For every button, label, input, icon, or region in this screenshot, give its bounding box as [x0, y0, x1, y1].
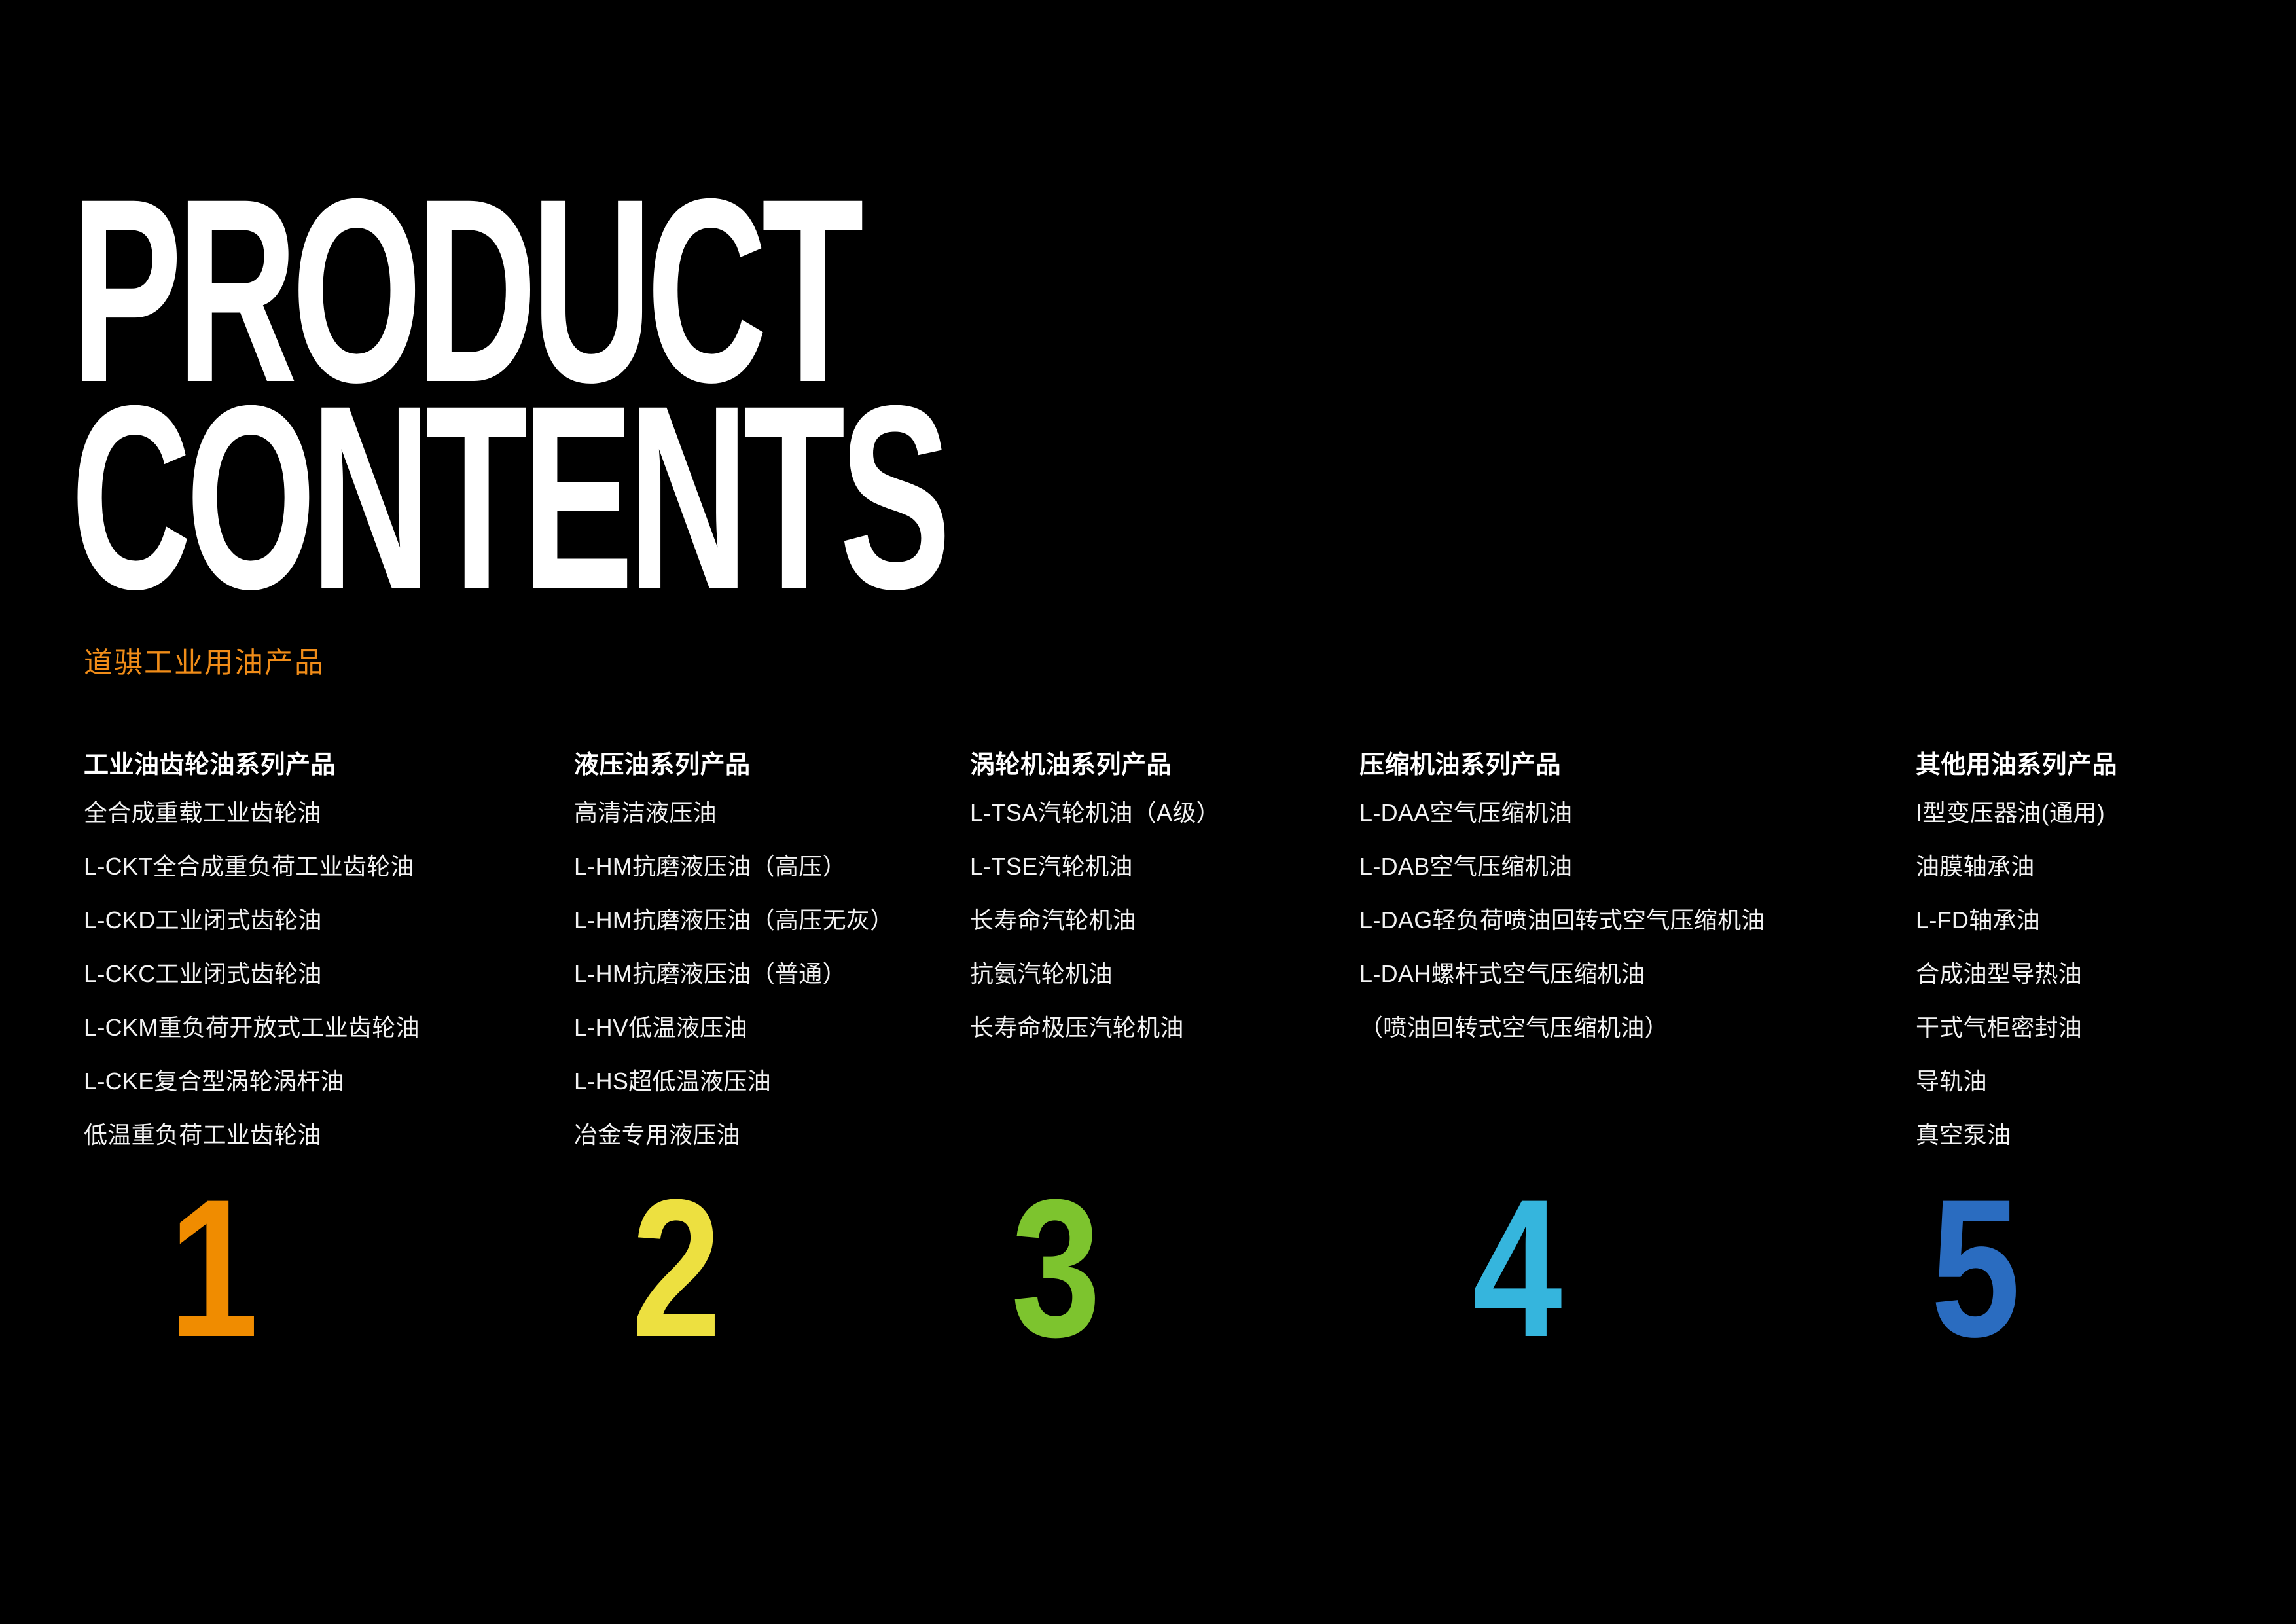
page-subtitle: 道骐工业用油产品	[84, 639, 325, 681]
list-item: L-CKM重负荷开放式工业齿轮油	[84, 1016, 568, 1039]
list-item: 全合成重载工业齿轮油	[84, 801, 568, 825]
list-item: 抗氨汽轮机油	[970, 962, 1356, 986]
list-item: 长寿命极压汽轮机油	[970, 1016, 1356, 1039]
list-item: L-HM抗磨液压油（高压）	[574, 855, 967, 878]
list-item: 低温重负荷工业齿轮油	[84, 1123, 568, 1147]
category-header-3: 涡轮机油系列产品	[970, 753, 1356, 778]
product-category-columns: 工业油齿轮油系列产品 全合成重载工业齿轮油 L-CKT全合成重负荷工业齿轮油 L…	[0, 753, 2296, 1211]
list-item: L-CKE复合型涡轮涡杆油	[84, 1070, 568, 1093]
list-item: I型变压器油(通用)	[1916, 801, 2217, 825]
category-header-1: 工业油齿轮油系列产品	[84, 753, 568, 778]
list-item: 长寿命汽轮机油	[970, 909, 1356, 932]
list-item: L-TSA汽轮机油（A级）	[970, 801, 1356, 825]
list-item: 真空泵油	[1916, 1123, 2217, 1147]
list-item: L-DAH螺杆式空气压缩机油	[1359, 962, 1909, 986]
list-item: L-FD轴承油	[1916, 909, 2217, 932]
list-item: L-CKC工业闭式齿轮油	[84, 962, 568, 986]
category-list-1: 全合成重载工业齿轮油 L-CKT全合成重负荷工业齿轮油 L-CKD工业闭式齿轮油…	[84, 801, 568, 1147]
list-item: 导轨油	[1916, 1070, 2217, 1093]
category-header-5: 其他用油系列产品	[1916, 753, 2217, 778]
category-column-1: 工业油齿轮油系列产品 全合成重载工业齿轮油 L-CKT全合成重负荷工业齿轮油 L…	[84, 753, 568, 1177]
page-title: PRODUCT CONTENTS	[71, 187, 1380, 601]
list-item: L-HV低温液压油	[574, 1016, 967, 1039]
category-header-2: 液压油系列产品	[574, 753, 967, 778]
category-list-4: L-DAA空气压缩机油 L-DAB空气压缩机油 L-DAG轻负荷喷油回转式空气压…	[1359, 801, 1909, 1039]
list-item: L-HM抗磨液压油（高压无灰）	[574, 909, 967, 932]
category-column-3: 涡轮机油系列产品 L-TSA汽轮机油（A级） L-TSE汽轮机油 长寿命汽轮机油…	[970, 753, 1356, 1070]
list-item: 冶金专用液压油	[574, 1123, 967, 1147]
list-item: L-CKT全合成重负荷工业齿轮油	[84, 855, 568, 878]
list-item: L-HS超低温液压油	[574, 1070, 967, 1093]
section-numeral-5: 5	[1931, 1191, 2020, 1344]
category-column-5: 其他用油系列产品 I型变压器油(通用) 油膜轴承油 L-FD轴承油 合成油型导热…	[1916, 753, 2217, 1177]
list-item: 油膜轴承油	[1916, 855, 2217, 878]
section-numeral-3: 3	[1011, 1191, 1101, 1344]
section-numerals: 1 2 3 4 5	[0, 1191, 2296, 1362]
list-item: L-DAB空气压缩机油	[1359, 855, 1909, 878]
category-list-2: 高清洁液压油 L-HM抗磨液压油（高压） L-HM抗磨液压油（高压无灰） L-H…	[574, 801, 967, 1147]
section-numeral-4: 4	[1473, 1191, 1562, 1344]
list-item: L-DAA空气压缩机油	[1359, 801, 1909, 825]
list-item: L-CKD工业闭式齿轮油	[84, 909, 568, 932]
page-title-line-2: CONTENTS	[71, 394, 908, 601]
list-item: L-DAG轻负荷喷油回转式空气压缩机油	[1359, 909, 1909, 932]
category-list-3: L-TSA汽轮机油（A级） L-TSE汽轮机油 长寿命汽轮机油 抗氨汽轮机油 长…	[970, 801, 1356, 1039]
list-item: L-TSE汽轮机油	[970, 855, 1356, 878]
slide-root: { "background_color": "#000000", "hero":…	[0, 0, 2296, 1624]
category-list-5: I型变压器油(通用) 油膜轴承油 L-FD轴承油 合成油型导热油 干式气柜密封油…	[1916, 801, 2217, 1147]
section-numeral-1: 1	[169, 1191, 259, 1344]
category-column-2: 液压油系列产品 高清洁液压油 L-HM抗磨液压油（高压） L-HM抗磨液压油（高…	[574, 753, 967, 1177]
list-item: 合成油型导热油	[1916, 962, 2217, 986]
category-header-4: 压缩机油系列产品	[1359, 753, 1909, 778]
list-item: 高清洁液压油	[574, 801, 967, 825]
list-item: L-HM抗磨液压油（普通）	[574, 962, 967, 986]
category-column-4: 压缩机油系列产品 L-DAA空气压缩机油 L-DAB空气压缩机油 L-DAG轻负…	[1359, 753, 1909, 1070]
list-item: （喷油回转式空气压缩机油）	[1359, 1016, 1909, 1039]
list-item: 干式气柜密封油	[1916, 1016, 2217, 1039]
section-numeral-2: 2	[632, 1191, 721, 1344]
